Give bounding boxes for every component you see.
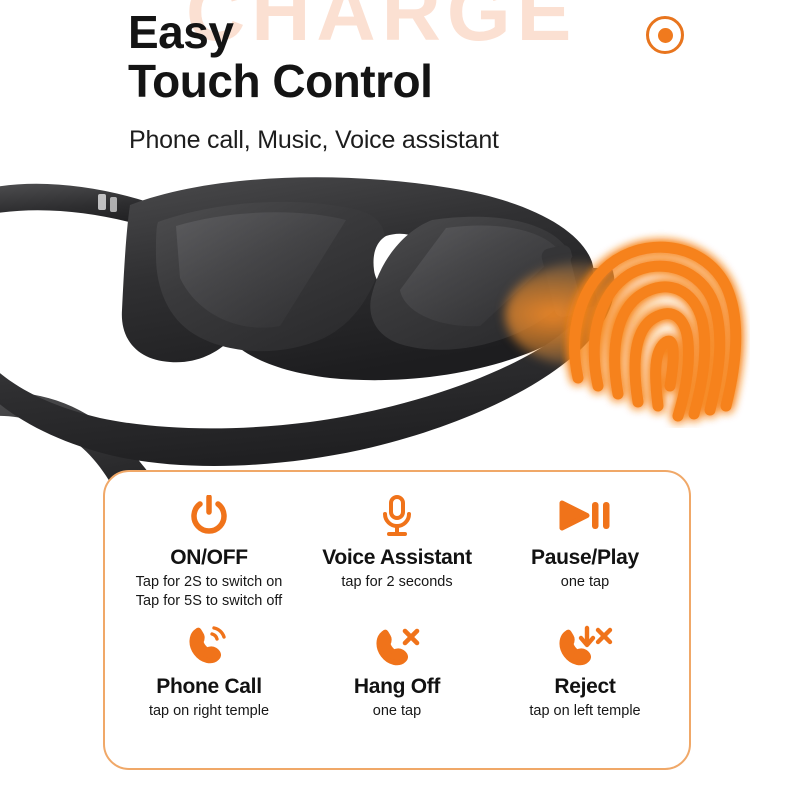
page-title-line-1: Easy xyxy=(128,6,233,58)
feature-cell-on-off[interactable]: ON/OFF Tap for 2S to switch on Tap for 5… xyxy=(115,492,303,623)
fingerprint-svg xyxy=(560,228,750,428)
phone-reject-icon xyxy=(556,623,614,669)
microphone-icon xyxy=(380,492,414,540)
feature-cell-hang-off[interactable]: Hang Off one tap xyxy=(303,623,491,754)
phone-call-icon xyxy=(186,623,232,669)
page-title: Easy Touch Control xyxy=(128,8,648,106)
feature-desc: one tap xyxy=(561,573,609,592)
feature-grid: ON/OFF Tap for 2S to switch on Tap for 5… xyxy=(105,472,689,768)
feature-title: Hang Off xyxy=(354,675,440,699)
phone-hangup-icon-svg xyxy=(373,625,421,667)
power-icon-svg xyxy=(189,495,229,537)
target-record-icon xyxy=(646,16,684,54)
product-feature-image: CHARGE Easy Touch Control Phone call, Mu… xyxy=(0,0,800,800)
page-title-line-2: Touch Control xyxy=(128,57,648,106)
touch-control-card: ON/OFF Tap for 2S to switch on Tap for 5… xyxy=(103,470,691,770)
feature-cell-voice-assistant[interactable]: Voice Assistant tap for 2 seconds xyxy=(303,492,491,623)
play-pause-icon xyxy=(559,492,611,540)
hinge-detail-2 xyxy=(110,197,117,212)
phone-call-icon-svg xyxy=(186,625,232,667)
fingerprint-icon xyxy=(560,228,750,428)
feature-title: Phone Call xyxy=(156,675,262,699)
feature-title: Reject xyxy=(554,675,615,699)
target-center-dot xyxy=(658,28,673,43)
feature-title: Pause/Play xyxy=(531,546,639,570)
play-pause-icon-svg xyxy=(559,499,611,533)
feature-cell-pause-play[interactable]: Pause/Play one tap xyxy=(491,492,679,623)
power-icon xyxy=(189,492,229,540)
phone-hangup-icon xyxy=(373,623,421,669)
feature-cell-phone-call[interactable]: Phone Call tap on right temple xyxy=(115,623,303,754)
microphone-icon-svg xyxy=(380,494,414,538)
feature-desc: tap for 2 seconds xyxy=(341,573,452,592)
feature-cell-reject[interactable]: Reject tap on left temple xyxy=(491,623,679,754)
feature-desc: Tap for 2S to switch on Tap for 5S to sw… xyxy=(136,573,283,610)
feature-desc: one tap xyxy=(373,702,421,721)
hinge-detail xyxy=(98,194,106,210)
phone-reject-icon-svg xyxy=(556,625,614,667)
feature-title: Voice Assistant xyxy=(322,546,472,570)
feature-title: ON/OFF xyxy=(170,546,248,570)
feature-desc: tap on left temple xyxy=(529,702,640,721)
feature-desc: tap on right temple xyxy=(149,702,269,721)
